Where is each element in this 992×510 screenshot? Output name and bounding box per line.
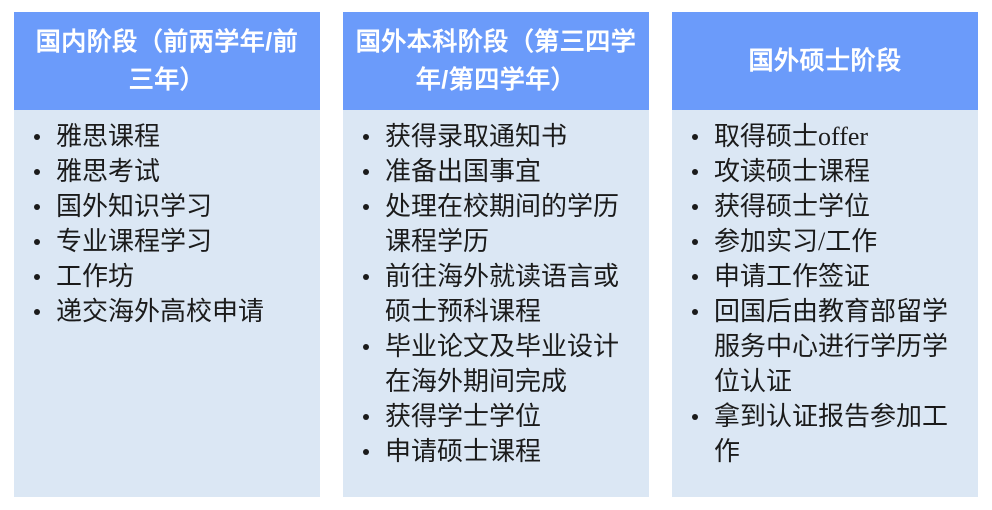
stage-column-overseas-master: 国外硕士阶段 取得硕士offer 攻读硕士课程 获得硕士学位 参加实习/工作 申… xyxy=(672,12,978,497)
stage-item-list: 获得录取通知书 准备出国事宜 处理在校期间的学历课程学历 前往海外就读语言或硕士… xyxy=(355,119,639,469)
list-item-label: 申请工作签证 xyxy=(714,262,870,291)
list-item-label: 雅思考试 xyxy=(56,157,160,186)
stage-column-domestic: 国内阶段（前两学年/前三年） 雅思课程 雅思考试 国外知识学习 专业课程学习 工… xyxy=(14,12,320,497)
bullet-icon xyxy=(34,134,40,140)
list-item-label: 攻读硕士课程 xyxy=(714,157,870,186)
list-item-label: 前往海外就读语言或硕士预科课程 xyxy=(385,262,619,326)
list-item: 参加实习/工作 xyxy=(684,224,968,259)
list-item-label: 准备出国事宜 xyxy=(385,157,541,186)
list-item-label: 参加实习/工作 xyxy=(714,227,877,256)
stage-column-body: 获得录取通知书 准备出国事宜 处理在校期间的学历课程学历 前往海外就读语言或硕士… xyxy=(343,110,649,497)
bullet-icon xyxy=(363,344,369,350)
list-item: 处理在校期间的学历课程学历 xyxy=(355,189,639,259)
bullet-icon xyxy=(692,274,698,280)
list-item-label: 取得硕士offer xyxy=(714,122,868,151)
bullet-icon xyxy=(34,309,40,315)
stage-column-header: 国内阶段（前两学年/前三年） xyxy=(14,12,320,110)
list-item: 雅思考试 xyxy=(26,154,310,189)
list-item-label: 毕业论文及毕业设计在海外期间完成 xyxy=(385,332,619,396)
list-item-label: 回国后由教育部留学服务中心进行学历学位认证 xyxy=(714,297,948,396)
list-item: 国外知识学习 xyxy=(26,189,310,224)
list-item-label: 获得学士学位 xyxy=(385,402,541,431)
stage-column-overseas-undergraduate: 国外本科阶段（第三四学年/第四学年） 获得录取通知书 准备出国事宜 处理在校期间… xyxy=(343,12,649,497)
bullet-icon xyxy=(34,169,40,175)
list-item-label: 获得录取通知书 xyxy=(385,122,567,151)
list-item-label: 拿到认证报告参加工作 xyxy=(714,402,948,466)
bullet-icon xyxy=(692,169,698,175)
list-item: 工作坊 xyxy=(26,259,310,294)
stage-column-title: 国外硕士阶段 xyxy=(682,42,968,80)
list-item-label: 工作坊 xyxy=(56,262,134,291)
list-item-label: 国外知识学习 xyxy=(56,192,212,221)
list-item: 申请硕士课程 xyxy=(355,434,639,469)
list-item-label: 处理在校期间的学历课程学历 xyxy=(385,192,619,256)
list-item: 获得录取通知书 xyxy=(355,119,639,154)
list-item: 取得硕士offer xyxy=(684,119,968,154)
bullet-icon xyxy=(692,239,698,245)
list-item-label: 获得硕士学位 xyxy=(714,192,870,221)
stage-item-list: 雅思课程 雅思考试 国外知识学习 专业课程学习 工作坊 递交海外高校申请 xyxy=(26,119,310,329)
list-item: 回国后由教育部留学服务中心进行学历学位认证 xyxy=(684,294,968,399)
bullet-icon xyxy=(692,414,698,420)
bullet-icon xyxy=(363,169,369,175)
list-item: 获得硕士学位 xyxy=(684,189,968,224)
bullet-icon xyxy=(363,274,369,280)
list-item-label: 专业课程学习 xyxy=(56,227,212,256)
bullet-icon xyxy=(692,204,698,210)
bullet-icon xyxy=(34,274,40,280)
bullet-icon xyxy=(692,134,698,140)
bullet-icon xyxy=(363,449,369,455)
list-item: 准备出国事宜 xyxy=(355,154,639,189)
list-item: 申请工作签证 xyxy=(684,259,968,294)
stage-column-title: 国外本科阶段（第三四学年/第四学年） xyxy=(353,23,639,99)
bullet-icon xyxy=(692,309,698,315)
list-item: 获得学士学位 xyxy=(355,399,639,434)
list-item-label: 递交海外高校申请 xyxy=(56,297,264,326)
list-item-label: 申请硕士课程 xyxy=(385,437,541,466)
list-item: 递交海外高校申请 xyxy=(26,294,310,329)
list-item: 专业课程学习 xyxy=(26,224,310,259)
bullet-icon xyxy=(34,239,40,245)
stage-column-title: 国内阶段（前两学年/前三年） xyxy=(24,23,310,99)
bullet-icon xyxy=(363,204,369,210)
list-item: 毕业论文及毕业设计在海外期间完成 xyxy=(355,329,639,399)
list-item-label: 雅思课程 xyxy=(56,122,160,151)
list-item: 拿到认证报告参加工作 xyxy=(684,399,968,469)
stage-item-list: 取得硕士offer 攻读硕士课程 获得硕士学位 参加实习/工作 申请工作签证 回… xyxy=(684,119,968,469)
stage-column-body: 取得硕士offer 攻读硕士课程 获得硕士学位 参加实习/工作 申请工作签证 回… xyxy=(672,110,978,497)
stage-diagram: 国内阶段（前两学年/前三年） 雅思课程 雅思考试 国外知识学习 专业课程学习 工… xyxy=(0,0,992,510)
list-item: 雅思课程 xyxy=(26,119,310,154)
list-item: 前往海外就读语言或硕士预科课程 xyxy=(355,259,639,329)
bullet-icon xyxy=(363,134,369,140)
bullet-icon xyxy=(363,414,369,420)
stage-column-header: 国外本科阶段（第三四学年/第四学年） xyxy=(343,12,649,110)
list-item: 攻读硕士课程 xyxy=(684,154,968,189)
stage-column-body: 雅思课程 雅思考试 国外知识学习 专业课程学习 工作坊 递交海外高校申请 xyxy=(14,110,320,497)
stage-column-header: 国外硕士阶段 xyxy=(672,12,978,110)
bullet-icon xyxy=(34,204,40,210)
